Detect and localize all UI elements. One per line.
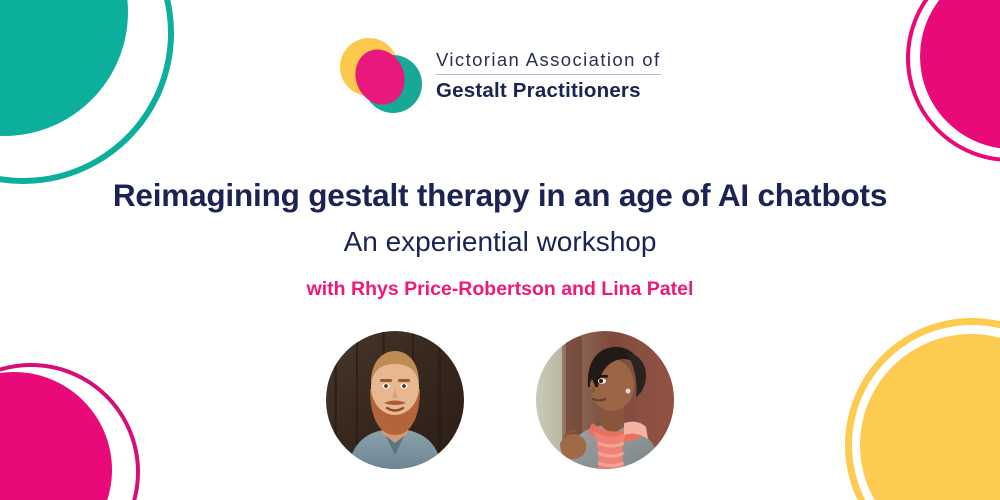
logo-mark bbox=[338, 37, 430, 115]
event-presenters: with Rhys Price-Robertson and Lina Patel bbox=[0, 279, 1000, 300]
speaker-photo-rhys-price-robertson bbox=[326, 331, 464, 469]
organisation-logo: Victorian Association of Gestalt Practit… bbox=[338, 36, 668, 116]
top-left-teal-circle-icon bbox=[0, 0, 128, 136]
logo-line-top: Victorian Association of bbox=[436, 49, 661, 74]
speaker-photo-lina-patel bbox=[536, 331, 674, 469]
top-right-magenta-circle-icon bbox=[920, 0, 1000, 149]
event-banner: Victorian Association of Gestalt Practit… bbox=[0, 0, 1000, 500]
headline-block: Reimagining gestalt therapy in an age of… bbox=[0, 178, 1000, 301]
speaker-portrait-image bbox=[536, 331, 674, 469]
event-title: Reimagining gestalt therapy in an age of… bbox=[0, 178, 1000, 213]
logo-line-bottom: Gestalt Practitioners bbox=[436, 75, 661, 103]
logo-wordmark: Victorian Association of Gestalt Practit… bbox=[436, 49, 661, 103]
top-left-teal-ring-icon bbox=[0, 0, 194, 204]
event-subtitle: An experiential workshop bbox=[0, 227, 1000, 258]
top-right-magenta-ring-icon bbox=[906, 0, 1000, 162]
speaker-photo-row bbox=[0, 331, 1000, 469]
speaker-portrait-image bbox=[326, 331, 464, 469]
